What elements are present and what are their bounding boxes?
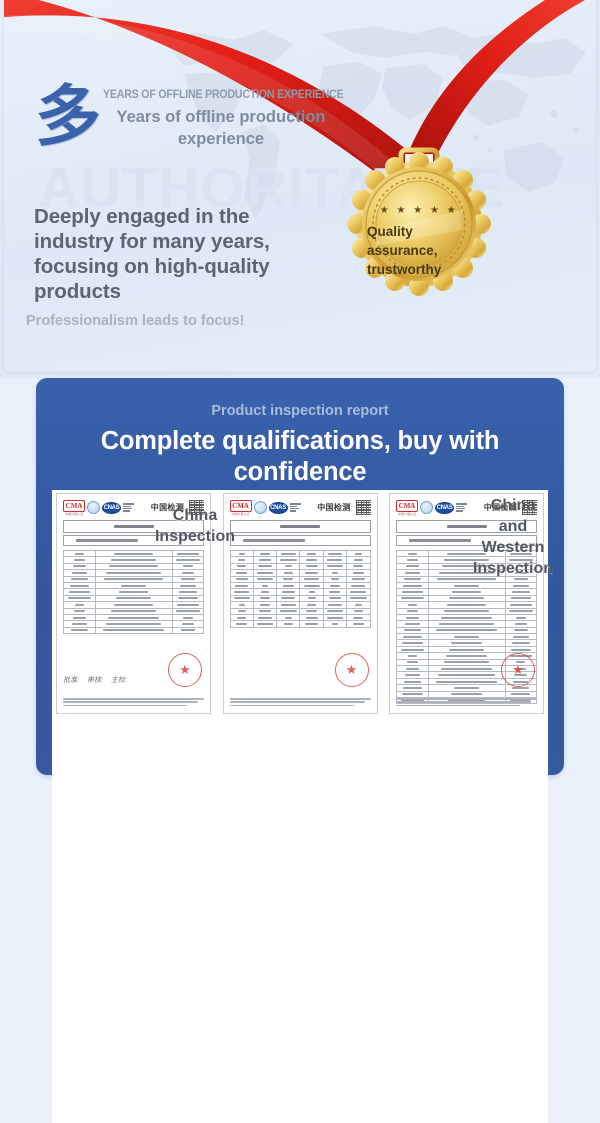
table-cell [95,627,172,633]
cnas-oval-logo: CNAS [102,502,121,514]
hero-eyebrow-text: YEARS OF OFFLINE PRODUCTION EXPERIENCE [103,89,343,101]
document-overlay-label: China and Western Inspection [448,495,578,579]
iso-circle-logo [87,501,100,514]
panel-eyebrow: Product inspection report [36,403,564,419]
iso-circle-logo [420,501,433,514]
gold-medal-badge: ★ ★ ★ ★ ★ Quality assurance, trustworthy [349,148,489,348]
hero-section: AUTHORITATIVE 多 YEARS OF OFFLINE PRODUCT… [0,0,600,378]
medal-text: Quality assurance, trustworthy [367,222,483,279]
red-official-seal: ★ [335,653,369,687]
document-signatures: 批准:审核:主检: [63,675,127,685]
table-cell [300,621,323,627]
table-cell [277,621,300,627]
barcode-logo [290,503,301,512]
hero-subline: Professionalism leads to focus! [26,312,356,330]
document-data-table [230,550,371,628]
table-cell [323,621,346,627]
hero-inner-panel: AUTHORITATIVE 多 YEARS OF OFFLINE PRODUCT… [4,0,596,372]
hero-years-text: Years of offline production experience [103,106,339,150]
cnas-oval-logo: CNAS [269,502,288,514]
table-cell [172,627,204,633]
table-cell [253,621,276,627]
document-footer [63,698,204,708]
medal-stars: ★ ★ ★ ★ ★ [380,205,458,216]
document-footer [230,698,371,708]
hero-headline: Deeply engaged in the industry for many … [34,204,334,304]
table-cell [64,627,96,633]
table-cell [347,621,370,627]
cma-logo: CMA中国计量认证 [63,500,85,516]
document-footer [396,698,537,708]
red-official-seal: ★ [168,653,202,687]
table-row [230,621,370,627]
document-data-table [63,550,204,634]
document-brand: 中国检测 [317,502,350,513]
qr-code [356,500,371,515]
document-overlay-label: China Inspection [130,505,260,547]
table-row [64,627,204,633]
chinese-character-logo: 多 [35,82,101,154]
table-cell [230,621,253,627]
red-official-seal: ★ [501,653,535,687]
documents-card: CMA中国计量认证CNAS中国检测批准:审核:主检:★CMA中国计量认证CNAS… [52,490,548,1123]
cma-logo: CMA中国计量认证 [396,500,418,516]
panel-title: Complete qualifications, buy with confid… [70,426,530,488]
